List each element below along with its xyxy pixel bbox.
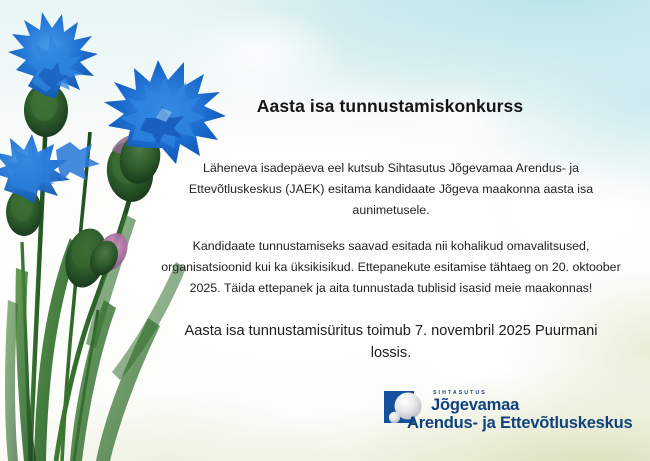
nomination-paragraph: Kandidaate tunnustamiseks saavad esitada… [156,236,626,299]
cornflower-petal-tuft [56,142,100,182]
poster-canvas: Aasta isa tunnustamiskonkurss Läheneva i… [0,0,650,461]
cornflower-head-left [8,12,98,98]
intro-paragraph: Läheneva isadepäeva eel kutsub Sihtasutu… [160,158,622,221]
jaek-logo: SIHTASUTUS Jõgevamaa Arendus- ja Ettevõt… [383,389,632,432]
event-paragraph: Aasta isa tunnustamisüritus toimub 7. no… [176,320,606,364]
logo-line-arendus: Arendus- ja Ettevõtluskeskus [407,414,632,432]
jaek-logo-text: SIHTASUTUS Jõgevamaa Arendus- ja Ettevõt… [431,389,632,432]
page-title: Aasta isa tunnustamiskonkurss [150,96,630,117]
logo-line-jogevamaa: Jõgevamaa [431,397,632,414]
